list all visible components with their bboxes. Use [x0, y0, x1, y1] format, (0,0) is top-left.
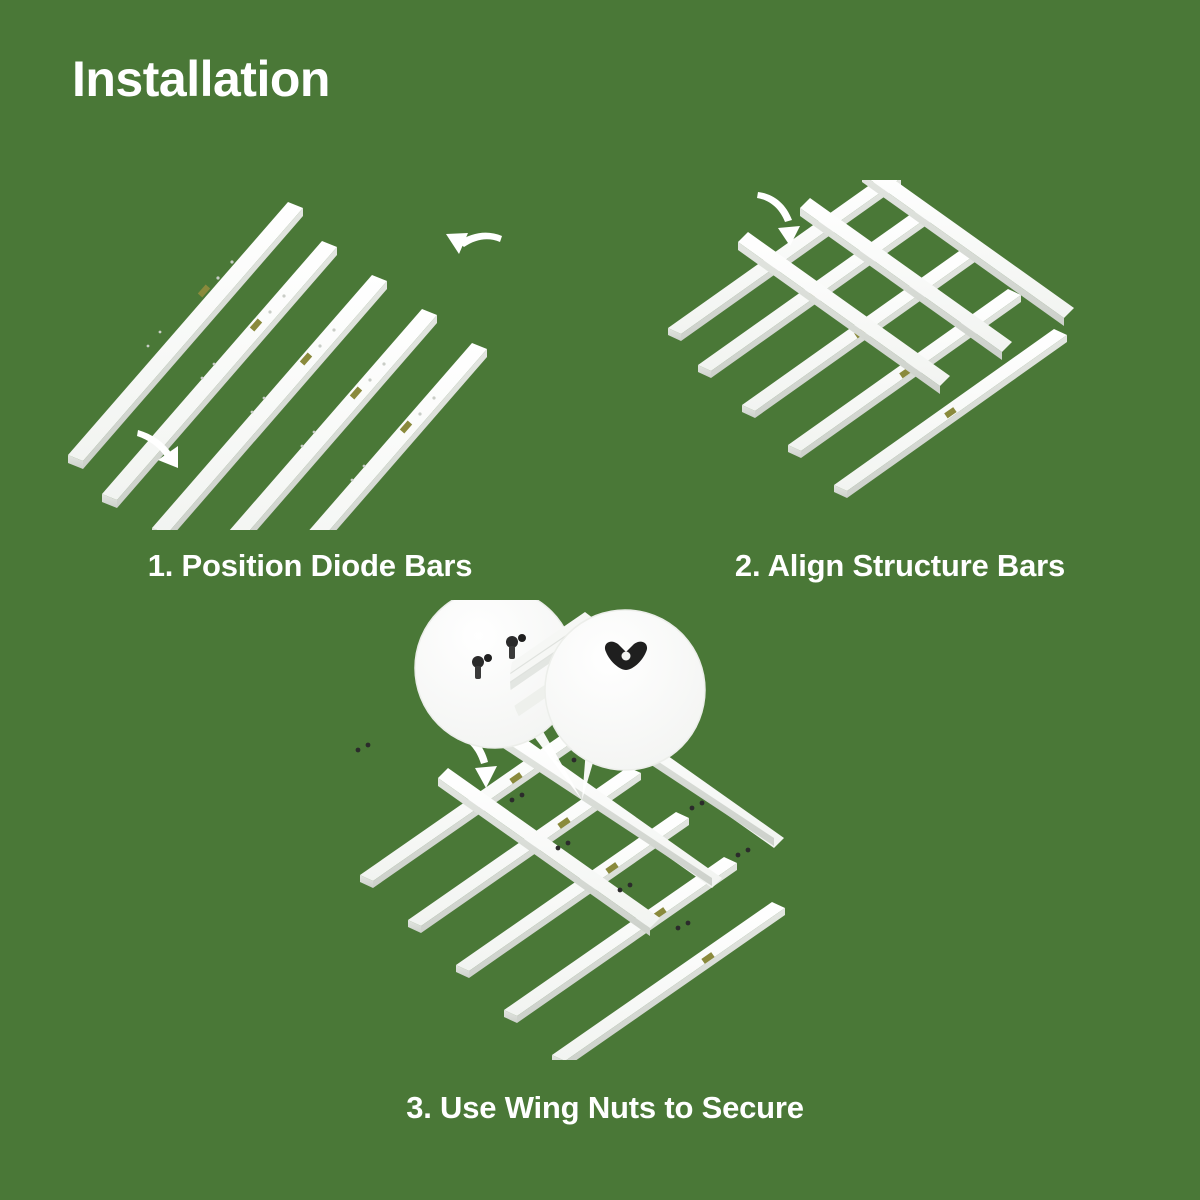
step-3-caption: 3. Use Wing Nuts to Secure [325, 1090, 885, 1126]
installation-infographic: Installation [0, 0, 1200, 1200]
diode-bar [834, 329, 1067, 498]
step-2-diagram [650, 180, 1150, 530]
wing-nut-icon [690, 801, 705, 811]
wing-nut-icon [618, 883, 633, 893]
wing-nut-icon [676, 921, 691, 931]
step-1-caption: 1. Position Diode Bars [60, 548, 560, 584]
arrow-down-icon [757, 192, 800, 246]
diode-bar [552, 902, 785, 1060]
wing-nut-icon [510, 793, 525, 803]
wing-nut-icon [556, 841, 571, 851]
arrow-up-left-icon [446, 233, 502, 254]
page-title: Installation [72, 54, 330, 104]
structure-bar [738, 232, 950, 394]
wing-nut-icon [356, 743, 371, 753]
step-2-caption: 2. Align Structure Bars [650, 548, 1150, 584]
diode-bar [408, 767, 641, 933]
diode-bar [788, 289, 1021, 458]
step-1-diagram [60, 170, 560, 530]
wing-nut-icon [736, 848, 751, 858]
step-3-diagram [330, 600, 880, 1060]
diode-bar [504, 857, 737, 1023]
